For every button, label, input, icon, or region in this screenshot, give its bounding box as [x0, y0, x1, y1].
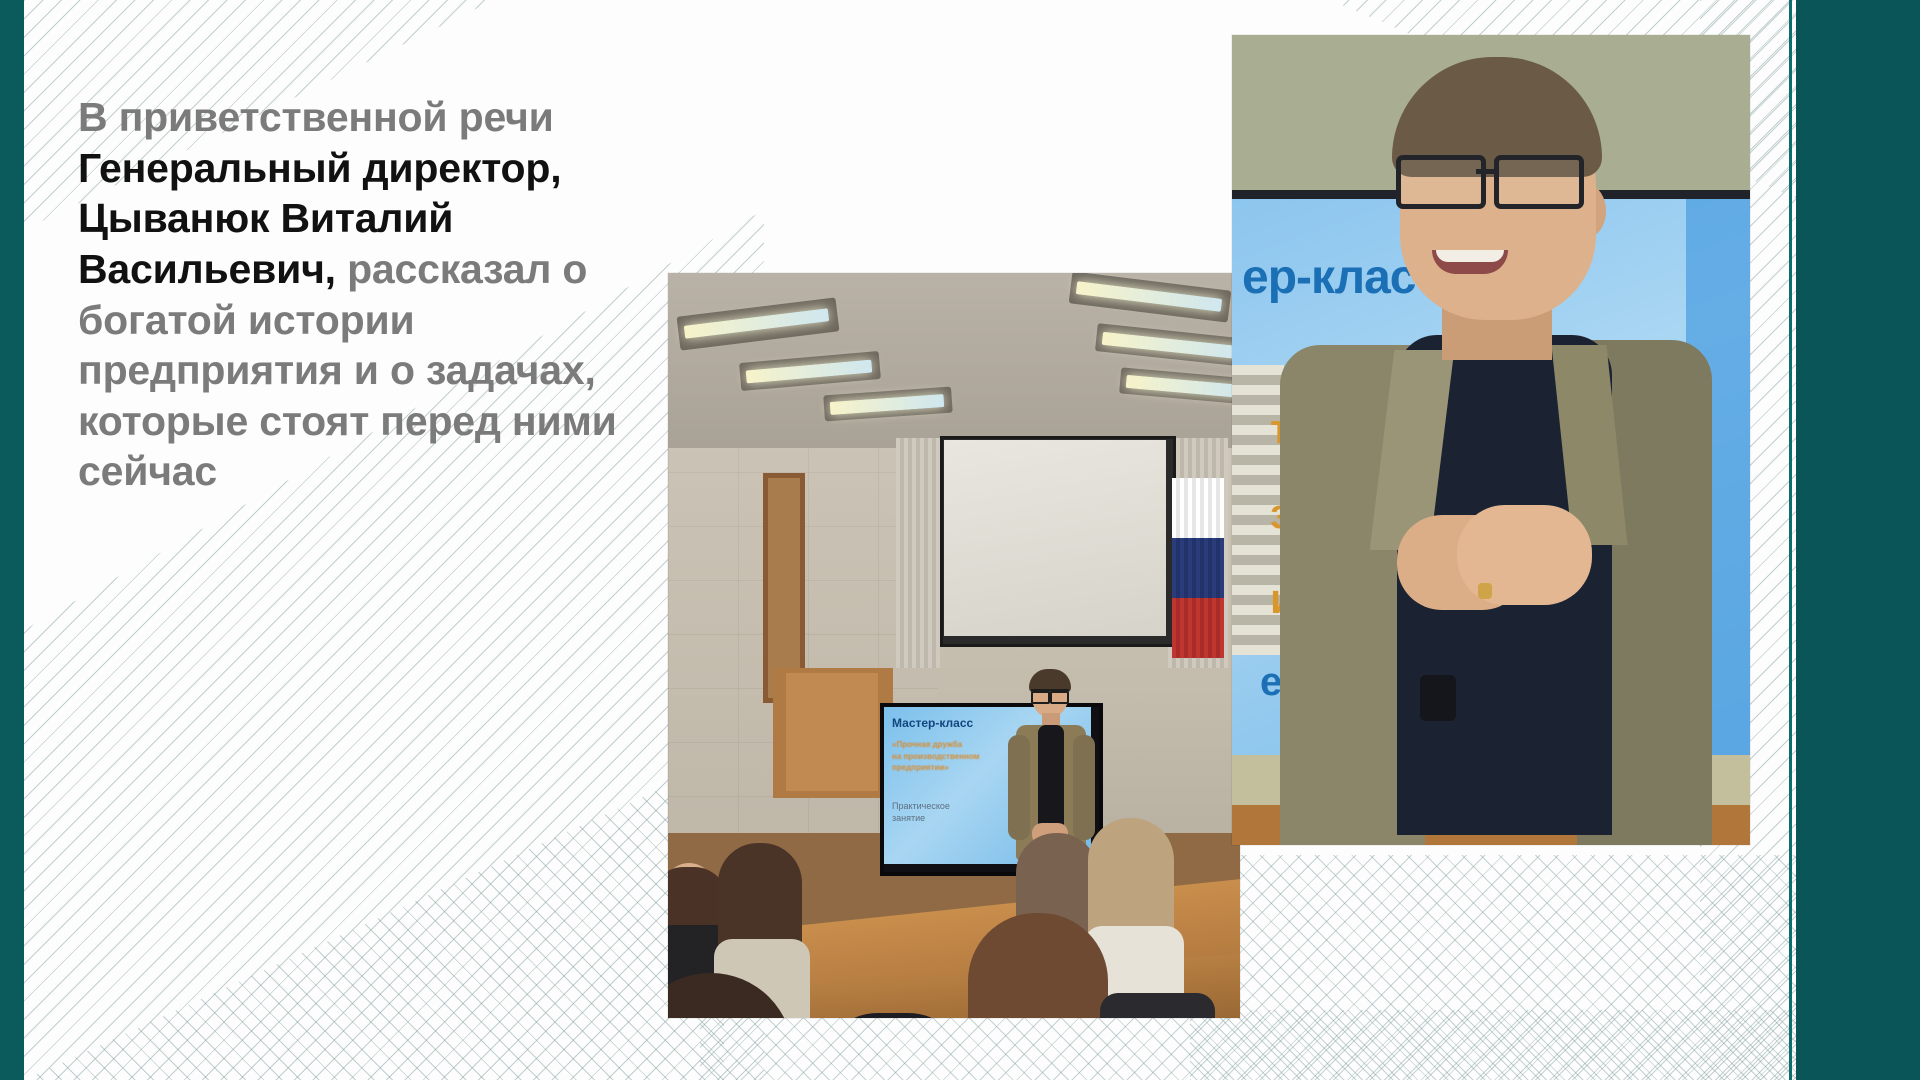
teal-right-block: [1796, 0, 1920, 1080]
presentation-slide: В приветственной речи Генеральный директ…: [0, 0, 1920, 1080]
conference-room-photo: Мастер-класс «Прочная дружба на производ…: [668, 273, 1240, 1018]
room-tv-title: Мастер-класс: [892, 717, 1012, 729]
crosshatch-bottom-right: [1190, 855, 1810, 1080]
room-tv-footer: Практическое занятие: [892, 801, 992, 824]
diagonal-hatch-bottom-center: [24, 760, 724, 1080]
speaker-lanyard-badge: [1420, 675, 1456, 721]
russian-flag: [1172, 478, 1224, 658]
speaker-glasses: [1396, 155, 1588, 201]
speaker-wedding-ring: [1478, 583, 1492, 599]
window-curtain-left: [896, 438, 940, 668]
room-door: [768, 478, 800, 698]
teal-left-bar: [0, 0, 24, 1080]
room-tv-line3: на производственном: [892, 751, 1002, 763]
room-tv-footer-line1: Практическое: [892, 801, 992, 813]
room-tv-line4: предприятии»: [892, 762, 1002, 774]
projection-screen: [944, 440, 1166, 636]
room-tv-line2: «Прочная дружба: [892, 739, 1002, 751]
headline-seg-0: В приветственной речи: [78, 94, 554, 140]
room-tv-footer-line2: занятие: [892, 813, 992, 825]
speaker-portrait-photo: ер-класс тна зв и еско: [1232, 35, 1750, 845]
speaker-teeth: [1436, 250, 1504, 262]
room-tv-subtitle-lines: «Прочная дружба на производственном пред…: [892, 739, 1002, 774]
teal-right-hairline: [1789, 0, 1792, 1080]
slide-headline: В приветственной речи Генеральный директ…: [78, 92, 633, 497]
wooden-podium-front: [786, 673, 878, 791]
crosshatch-bottom-strip: [700, 1010, 1800, 1080]
